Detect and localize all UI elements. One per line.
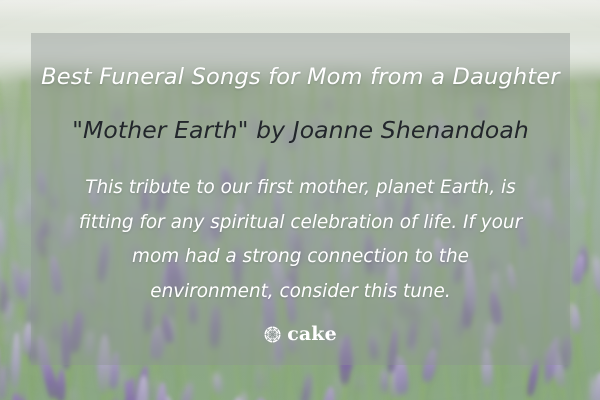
content-overlay-panel: Best Funeral Songs for Mom from a Daught… bbox=[31, 33, 570, 365]
social-share-card: Best Funeral Songs for Mom from a Daught… bbox=[0, 0, 600, 400]
globe-mandala-icon bbox=[264, 326, 281, 343]
brand-wordmark: cake bbox=[287, 325, 337, 344]
card-title: Best Funeral Songs for Mom from a Daught… bbox=[31, 64, 570, 90]
card-subtitle-song: "Mother Earth" by Joanne Shenandoah bbox=[31, 116, 570, 144]
brand-lockup: cake bbox=[31, 325, 570, 344]
card-description: This tribute to our first mother, planet… bbox=[69, 171, 532, 309]
